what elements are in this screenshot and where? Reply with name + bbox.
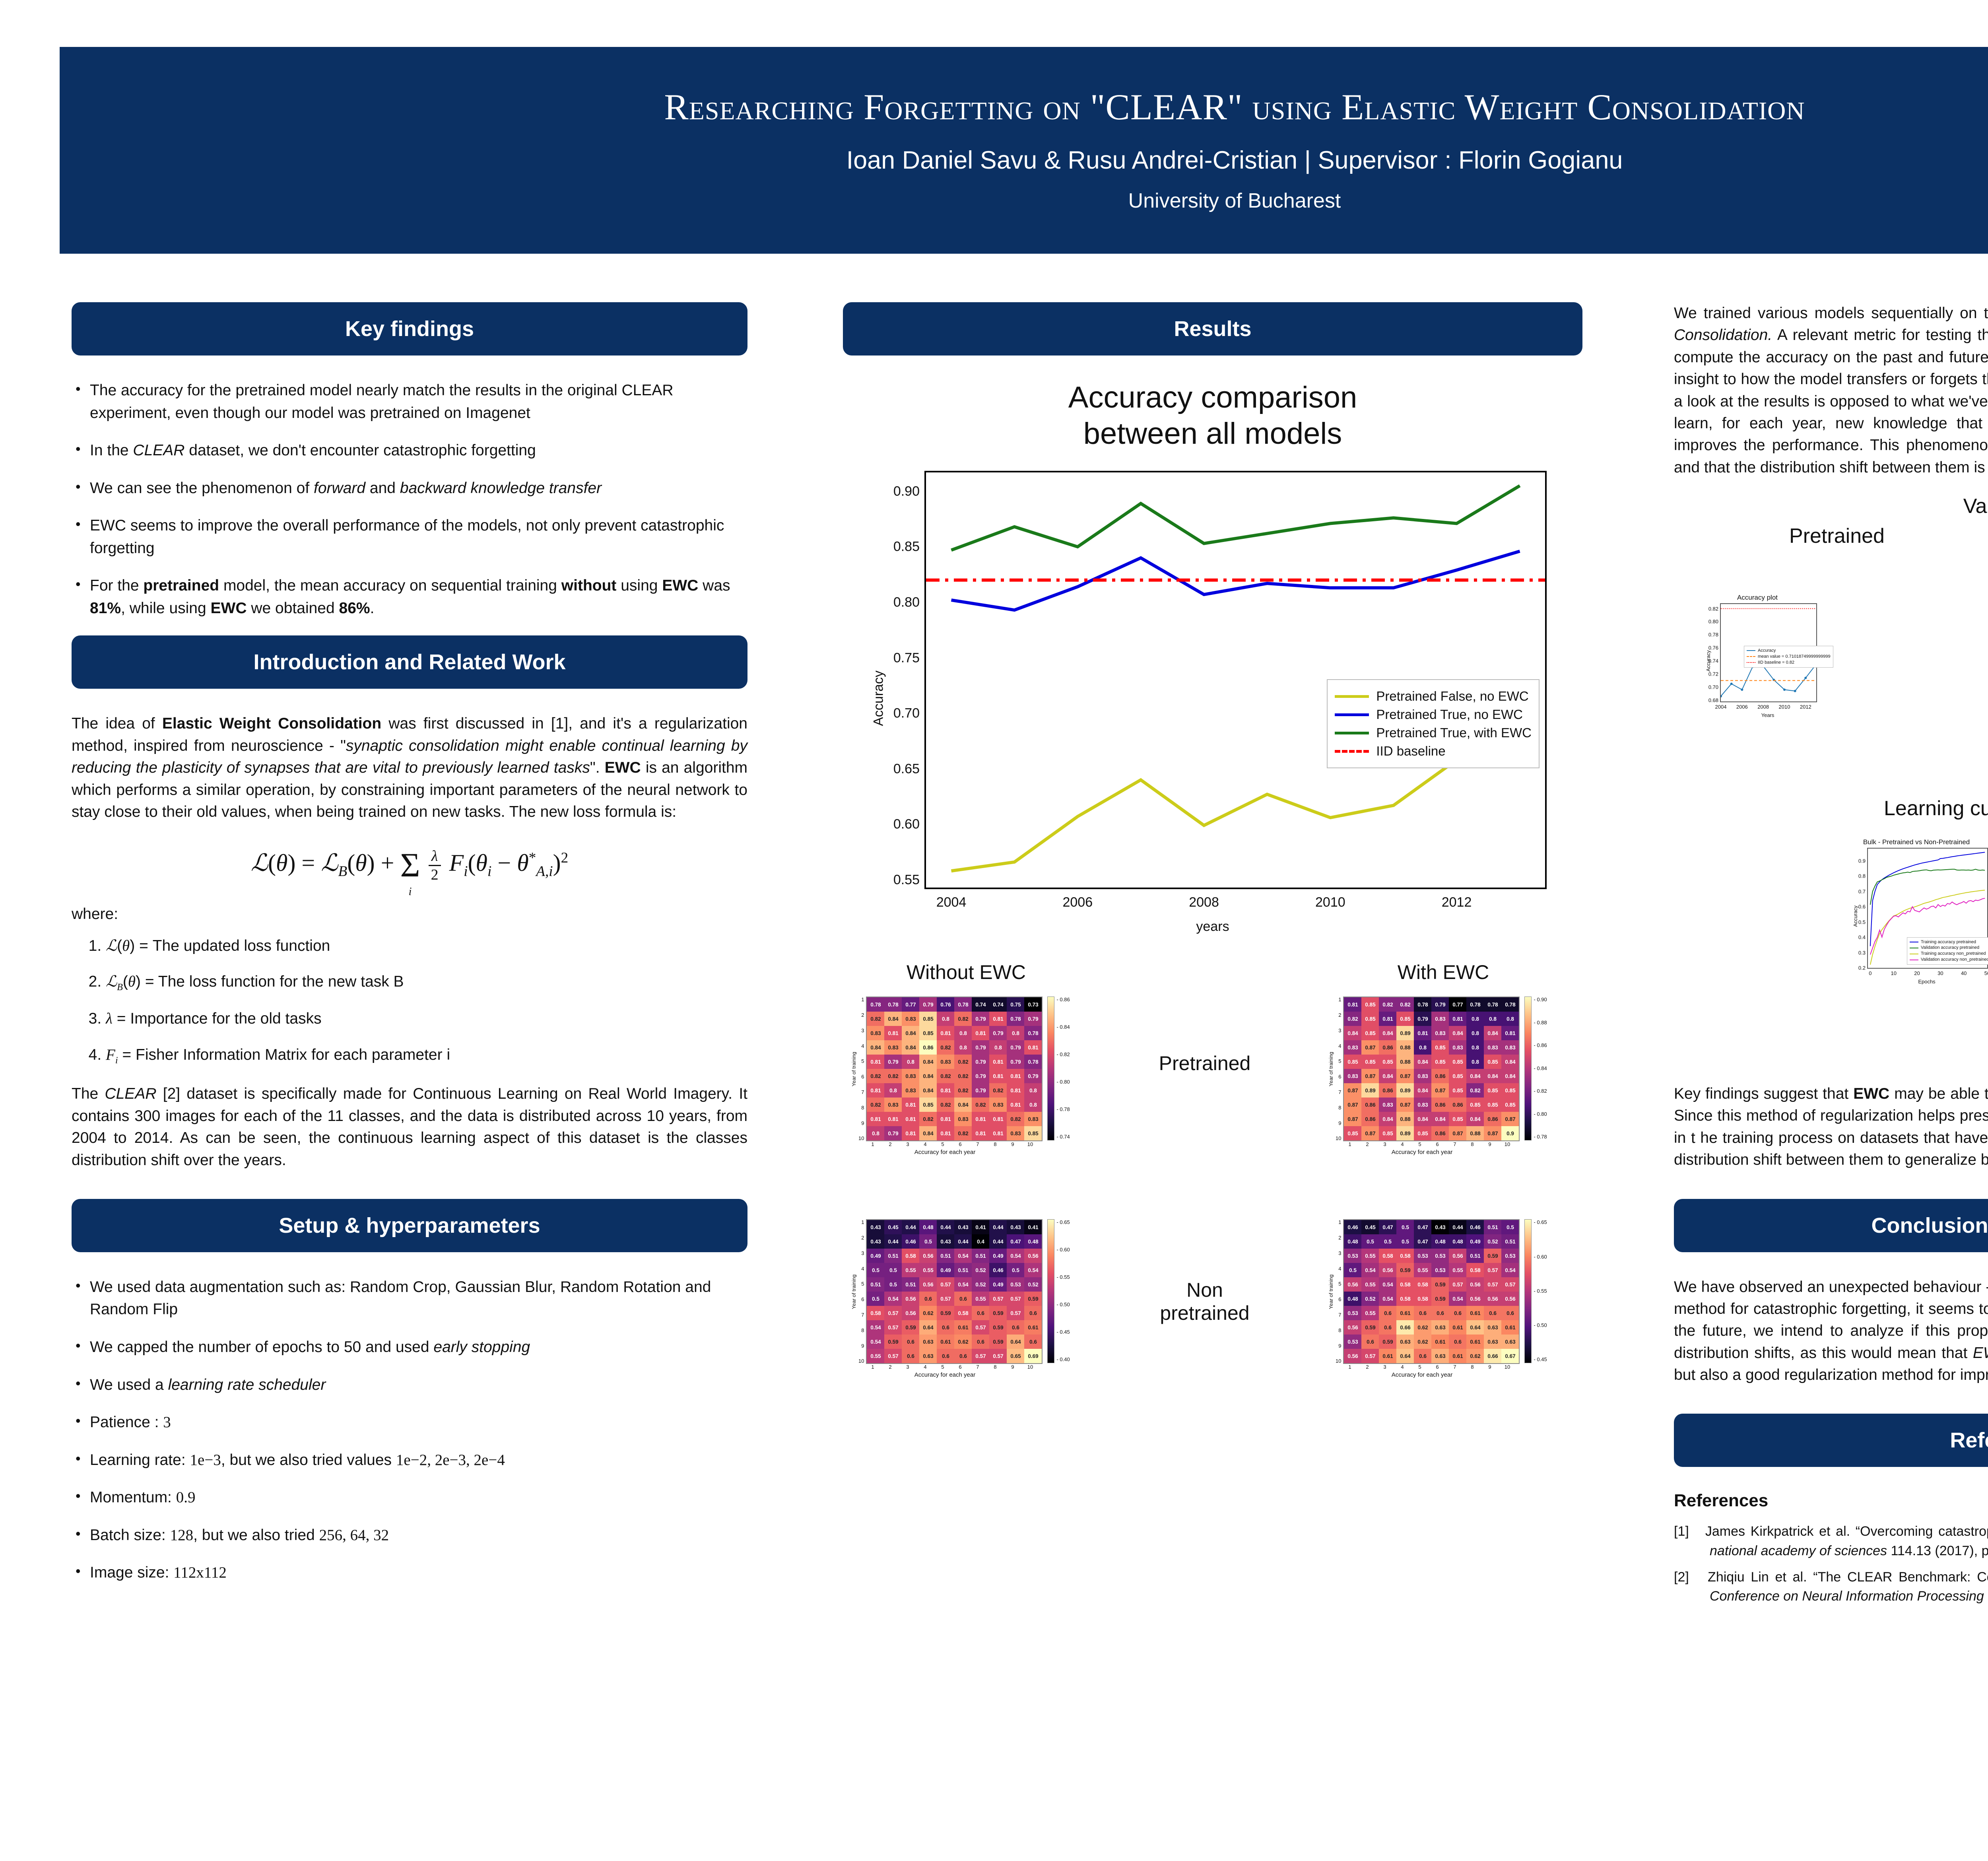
- heatmap-cell: 0.6: [902, 1349, 919, 1363]
- heatmap-cell: 0.81: [1007, 1098, 1024, 1112]
- list-item: We can see the phenomenon of forward and…: [72, 477, 747, 500]
- poster-header: Researching Forgetting on "CLEAR" using …: [60, 47, 1988, 254]
- heatmap-cell: 0.49: [937, 1263, 954, 1277]
- heatmap-cell: 0.58: [1396, 1249, 1414, 1263]
- chart-y-axis-label: Accuracy: [871, 670, 886, 726]
- heatmap-cell: 0.83: [1484, 1040, 1501, 1055]
- heatmap-y-tick: 1: [858, 997, 864, 1002]
- plot-y-tick: 0.80: [1708, 619, 1718, 625]
- heatmap-cell: 0.51: [1484, 1220, 1501, 1234]
- plot-y-tick: 0.68: [1708, 697, 1718, 703]
- heatmap-cell: 0.56: [919, 1249, 937, 1263]
- heatmap-colorbar-ticks: - 0.90- 0.88- 0.86- 0.84- 0.82- 0.80- 0.…: [1534, 997, 1547, 1140]
- heatmap-cell: 0.83: [884, 1040, 902, 1055]
- heatmap-cells: 0.460.450.470.50.470.430.440.460.510.50.…: [1343, 1219, 1520, 1364]
- heatmap-cell: 0.85: [1501, 1098, 1519, 1112]
- chart-x-tick: 2012: [1442, 895, 1472, 910]
- heatmap-cell: 0.51: [972, 1249, 989, 1263]
- heatmap-cell: 0.79: [972, 1083, 989, 1098]
- chart-y-tick: 0.90: [893, 484, 920, 499]
- plot-x-axis-label: Years: [1720, 712, 1815, 718]
- heatmap-cell: 0.81: [1379, 1012, 1396, 1026]
- heatmap-cell: 0.62: [1466, 1349, 1484, 1363]
- section-header-setup: Setup & hyperparameters: [72, 1199, 747, 1252]
- heatmap-cell: 0.6: [1024, 1335, 1042, 1349]
- heatmap-cell: 0.85: [1484, 1055, 1501, 1069]
- heatmap-cell: 0.8: [1501, 1012, 1519, 1026]
- legend-label: IID baseline: [1376, 744, 1445, 759]
- heatmap-y-axis-label: Year of training: [851, 1052, 857, 1086]
- heatmap-cell: 0.6: [1414, 1306, 1431, 1320]
- heatmap-cell: 0.55: [1361, 1277, 1379, 1292]
- heatmap-cell: 0.53: [1414, 1249, 1431, 1263]
- heatmap-cell: 0.8: [989, 1040, 1007, 1055]
- heatmap-cell: 0.83: [1379, 1098, 1396, 1112]
- heatmap-cell: 0.59: [1484, 1249, 1501, 1263]
- heatmap-cell: 0.85: [1501, 1083, 1519, 1098]
- heatmap-cell: 0.85: [1431, 1040, 1449, 1055]
- heatmap-y-axis-label: Year of training: [1328, 1052, 1334, 1086]
- heatmap-cell: 0.61: [937, 1335, 954, 1349]
- heatmap-cell: 0.88: [1396, 1040, 1414, 1055]
- heatmap-cell: 0.83: [989, 1098, 1007, 1112]
- heatmap-cell: 0.57: [937, 1277, 954, 1292]
- legend-label: Validation accuracy pretrained: [1921, 945, 1979, 951]
- legend-swatch: [1335, 695, 1369, 698]
- heatmap-cell: 0.49: [989, 1277, 1007, 1292]
- heatmap-cell: 0.44: [954, 1234, 972, 1249]
- heatmap-cell: 0.6: [1007, 1320, 1024, 1335]
- heatmap-cell: 0.81: [937, 1083, 954, 1098]
- heatmap-cell: 0.52: [972, 1263, 989, 1277]
- right-column: We trained various models sequentially o…: [1674, 302, 1988, 1615]
- heatmap-cell: 0.49: [867, 1249, 884, 1263]
- heatmap-cell: 0.85: [1484, 1098, 1501, 1112]
- heatmap-y-tick: 9: [858, 1343, 864, 1349]
- heatmap-cell: 0.63: [1431, 1349, 1449, 1363]
- heatmap-cell: 0.89: [1396, 1083, 1414, 1098]
- heatmap-y-tick: 7: [1336, 1089, 1341, 1095]
- heatmap-y-tick: 4: [858, 1043, 864, 1049]
- heatmap-x-tick: 3: [899, 1141, 916, 1147]
- heatmap-cell: 0.61: [1466, 1306, 1484, 1320]
- heatmap-y-tick: 6: [858, 1296, 864, 1302]
- heatmap-cell: 0.79: [1024, 1012, 1042, 1026]
- heatmap-cell: 0.83: [1431, 1026, 1449, 1040]
- list-item: ℒB(θ) = The loss function for the new ta…: [106, 971, 747, 994]
- heatmap-cell: 0.61: [1431, 1335, 1449, 1349]
- heatmap-cell: 0.61: [1379, 1349, 1396, 1363]
- heatmap-cell: 0.86: [1484, 1112, 1501, 1126]
- heatmap-cell: 0.85: [1379, 1055, 1396, 1069]
- heatmap-cell: 0.58: [1379, 1249, 1396, 1263]
- heatmap-cell: 0.48: [919, 1220, 937, 1234]
- heatmap-y-tick: 8: [1336, 1105, 1341, 1111]
- heatmap-cell: 0.84: [884, 1012, 902, 1026]
- plot-x-tick: 30: [1938, 970, 1943, 976]
- heatmap-x-axis-label: Accuracy for each year: [851, 1371, 1039, 1378]
- heatmap-cell: 0.41: [1024, 1220, 1042, 1234]
- plot-x-tick: 20: [1914, 970, 1920, 976]
- colorbar-tick: - 0.65: [1534, 1219, 1547, 1225]
- heatmap-y-tick: 3: [1336, 1028, 1341, 1033]
- chart-y-tick: 0.65: [893, 761, 920, 777]
- heatmap-cell: 0.43: [937, 1234, 954, 1249]
- heatmap-cell: 0.56: [1501, 1292, 1519, 1306]
- heatmap-cell: 0.5: [867, 1292, 884, 1306]
- heatmap-x-tick: 10: [1499, 1364, 1516, 1370]
- heatmap-cell: 0.83: [902, 1083, 919, 1098]
- heatmap-cell: 0.85: [1396, 1012, 1414, 1026]
- heatmap-cell: 0.82: [937, 1069, 954, 1083]
- references-heading: References: [1674, 1491, 1988, 1511]
- colorbar-tick: - 0.84: [1534, 1065, 1547, 1071]
- heatmap-x-tick: 1: [1341, 1364, 1359, 1370]
- heatmap-cell: 0.87: [1361, 1069, 1379, 1083]
- heatmap-cell: 0.57: [1007, 1292, 1024, 1306]
- heatmap-cell: 0.85: [1414, 1126, 1431, 1140]
- heatmap-cell: 0.84: [1484, 1069, 1501, 1083]
- heatmap-cell: 0.63: [1484, 1335, 1501, 1349]
- heatmap-cell: 0.6: [937, 1349, 954, 1363]
- heatmap-cell: 0.81: [902, 1098, 919, 1112]
- heatmap-cell: 0.78: [1007, 1012, 1024, 1026]
- heatmap-cell: 0.54: [1379, 1292, 1396, 1306]
- heatmap-cell: 0.64: [1466, 1320, 1484, 1335]
- heatmap-row-label-non-pretrained: Nonpretrained: [1105, 1279, 1304, 1325]
- heatmap-col-label-without-ewc: Without EWC: [855, 961, 1077, 984]
- heatmap-cell: 0.84: [1449, 1026, 1466, 1040]
- heatmap-cell: 0.79: [972, 1012, 989, 1026]
- header-text-block: Researching Forgetting on "CLEAR" using …: [60, 88, 1988, 213]
- heatmap-y-tick: 2: [1336, 1012, 1341, 1018]
- heatmap-cell: 0.54: [1361, 1263, 1379, 1277]
- heatmap-cell: 0.78: [1024, 1055, 1042, 1069]
- heatmap-cell: 0.77: [1449, 997, 1466, 1012]
- heatmap-x-tick: 4: [1394, 1141, 1411, 1147]
- heatmap-cell: 0.84: [1484, 1026, 1501, 1040]
- heatmap-cell: 0.59: [1361, 1320, 1379, 1335]
- introduction-paragraph: The idea of Elastic Weight Consolidation…: [72, 713, 747, 823]
- heatmap-cell: 0.87: [1501, 1112, 1519, 1126]
- heatmap-cell: 0.85: [1431, 1055, 1449, 1069]
- legend-entry: Pretrained False, no EWC: [1335, 689, 1532, 704]
- heatmap-x-tick: 7: [1446, 1141, 1464, 1147]
- heatmap-cell: 0.84: [1379, 1026, 1396, 1040]
- heatmap-cell: 0.84: [902, 1026, 919, 1040]
- legend-entry: IID baseline = 0.82: [1747, 660, 1831, 666]
- heatmap-cell: 0.57: [1484, 1277, 1501, 1292]
- heatmap-cell: 0.81: [867, 1055, 884, 1069]
- heatmap-cell: 0.47: [1007, 1234, 1024, 1249]
- chart-legend: Pretrained False, no EWCPretrained True,…: [1327, 679, 1540, 768]
- heatmap-cell: 0.57: [937, 1292, 954, 1306]
- heatmap-cell: 0.83: [1414, 1069, 1431, 1083]
- heatmap-cell: 0.58: [1414, 1292, 1431, 1306]
- list-item: Patience : 3: [72, 1411, 747, 1434]
- heatmap-cell: 0.56: [1484, 1292, 1501, 1306]
- heatmap-cell: 0.8: [1024, 1098, 1042, 1112]
- colorbar-tick: - 0.55: [1534, 1288, 1547, 1294]
- heatmap-cell: 0.84: [1466, 1069, 1484, 1083]
- plot-y-tick: 0.5: [1858, 919, 1866, 925]
- validation-heading: Validation: [1928, 494, 1988, 518]
- heatmap-y-tick: 3: [858, 1250, 864, 1256]
- heatmap-cell: 0.63: [1501, 1335, 1519, 1349]
- heatmap-cell: 0.8: [954, 1026, 972, 1040]
- heatmap-cell: 0.57: [972, 1349, 989, 1363]
- heatmap-cell: 0.82: [1007, 1112, 1024, 1126]
- plot-y-tick: 0.78: [1708, 632, 1718, 638]
- heatmap-cell: 0.79: [972, 1040, 989, 1055]
- colorbar-tick: - 0.65: [1056, 1219, 1070, 1225]
- plot-y-tick: 0.8: [1858, 873, 1866, 879]
- heatmap-cell: 0.8: [937, 1012, 954, 1026]
- heatmap-cell: 0.51: [884, 1249, 902, 1263]
- heatmap-cell: 0.59: [937, 1306, 954, 1320]
- heatmap-cell: 0.48: [1024, 1234, 1042, 1249]
- heatmap-cell: 0.85: [1344, 1126, 1361, 1140]
- heatmap-cell: 0.83: [1449, 1040, 1466, 1055]
- heatmap-cell: 0.52: [972, 1277, 989, 1292]
- heatmap-cell: 0.81: [867, 1112, 884, 1126]
- heatmap-cell: 0.51: [867, 1277, 884, 1292]
- list-item: We used a learning rate scheduler: [72, 1374, 747, 1397]
- legend-entry: Pretrained True, no EWC: [1335, 707, 1532, 722]
- heatmap-row-ticks: 12345678910: [858, 1219, 866, 1364]
- heatmap-cell: 0.85: [1449, 1069, 1466, 1083]
- heatmap-cell: 0.81: [972, 1126, 989, 1140]
- heatmap-cell: 0.55: [919, 1263, 937, 1277]
- heatmap-cell: 0.63: [919, 1335, 937, 1349]
- chart-plot-area: 0.550.600.650.700.750.800.850.9020042006…: [924, 471, 1547, 889]
- heatmap-cell: 0.62: [919, 1306, 937, 1320]
- heatmap-row-ticks: 12345678910: [1336, 997, 1343, 1141]
- heatmap-cell: 0.82: [867, 1012, 884, 1026]
- heatmap-x-tick: 3: [1376, 1141, 1394, 1147]
- heatmap-x-tick: 2: [881, 1141, 899, 1147]
- heatmap-cell: 0.86: [1379, 1040, 1396, 1055]
- heatmap-cell: 0.81: [902, 1126, 919, 1140]
- heatmap-cell: 0.53: [1344, 1306, 1361, 1320]
- plot-y-tick: 0.2: [1858, 965, 1866, 971]
- heatmap-cell: 0.79: [1007, 1055, 1024, 1069]
- heatmap-cell: 0.8: [1484, 1012, 1501, 1026]
- list-item: λ = Importance for the old tasks: [106, 1008, 747, 1030]
- heatmap-x-ticks: 12345678910: [1341, 1141, 1516, 1147]
- heatmap-x-ticks: 12345678910: [864, 1141, 1039, 1147]
- colorbar-tick: - 0.86: [1534, 1042, 1547, 1048]
- legend-entry: Accuracy: [1747, 648, 1831, 654]
- heatmap-cell: 0.85: [1449, 1112, 1466, 1126]
- where-label: where:: [72, 903, 747, 925]
- heatmap-cell: 0.66: [1484, 1349, 1501, 1363]
- plot-y-tick: 0.7: [1858, 888, 1866, 894]
- heatmap-cell: 0.81: [1414, 1026, 1431, 1040]
- heatmap-y-tick: 8: [858, 1105, 864, 1111]
- heatmap-cell: 0.54: [1379, 1277, 1396, 1292]
- heatmap-cell: 0.61: [1501, 1320, 1519, 1335]
- heatmap-cell: 0.54: [867, 1320, 884, 1335]
- heatmap-x-tick: 2: [881, 1364, 899, 1370]
- heatmap-cell: 0.57: [884, 1320, 902, 1335]
- heatmap-y-tick: 3: [1336, 1250, 1341, 1256]
- heatmap-cell: 0.81: [884, 1026, 902, 1040]
- heatmap-cell: 0.85: [919, 1098, 937, 1112]
- heatmap-x-tick: 6: [951, 1141, 969, 1147]
- validation-label-pretrained: Pretrained: [1745, 524, 1928, 548]
- heatmap-cell: 0.82: [919, 1112, 937, 1126]
- plot-y-tick: 0.82: [1708, 606, 1718, 612]
- heatmap-cell: 0.83: [1344, 1069, 1361, 1083]
- heatmap-cell: 0.43: [1007, 1220, 1024, 1234]
- heatmap-cell: 0.46: [902, 1234, 919, 1249]
- heatmap-cell: 0.61: [1449, 1320, 1466, 1335]
- heatmap-cell: 0.62: [954, 1335, 972, 1349]
- heatmap-y-tick: 8: [1336, 1327, 1341, 1333]
- legend-swatch: [1747, 650, 1755, 651]
- heatmap-y-tick: 5: [1336, 1281, 1341, 1287]
- dataset-paragraph: The CLEAR [2] dataset is specifically ma…: [72, 1083, 747, 1171]
- plot-x-tick: 40: [1961, 970, 1967, 976]
- heatmap-cell: 0.59: [884, 1335, 902, 1349]
- legend-swatch: [1335, 732, 1369, 734]
- heatmap-cell: 0.54: [954, 1249, 972, 1263]
- heatmap-y-tick: 1: [1336, 997, 1341, 1002]
- heatmap-y-tick: 4: [858, 1266, 864, 1272]
- chart-x-tick: 2006: [1062, 895, 1093, 910]
- heatmap-cell: 0.75: [1007, 997, 1024, 1012]
- heatmap-colorbar-ticks: - 0.65- 0.60- 0.55- 0.50- 0.45: [1534, 1219, 1547, 1362]
- heatmap-cell: 0.6: [937, 1320, 954, 1335]
- heatmap-cell: 0.85: [1449, 1055, 1466, 1069]
- heatmap-y-tick: 5: [1336, 1058, 1341, 1064]
- heatmap-pretrained-no-ewc: Year of training123456789100.780.780.770…: [851, 997, 1076, 1156]
- section-header-references: References: [1674, 1414, 1988, 1467]
- heatmap-cell: 0.61: [1396, 1306, 1414, 1320]
- heatmap-x-tick: 9: [1004, 1141, 1021, 1147]
- chart-y-tick: 0.70: [893, 706, 920, 721]
- heatmap-cell: 0.6: [919, 1292, 937, 1306]
- heatmap-cell: 0.44: [1449, 1220, 1466, 1234]
- heatmap-cell: 0.86: [1431, 1126, 1449, 1140]
- heatmap-cell: 0.81: [989, 1055, 1007, 1069]
- heatmap-cell: 0.48: [1344, 1234, 1361, 1249]
- heatmap-cell: 0.56: [1024, 1249, 1042, 1263]
- heatmap-cell: 0.58: [1396, 1292, 1414, 1306]
- heatmap-cell: 0.79: [884, 1055, 902, 1069]
- heatmap-x-tick: 10: [1021, 1364, 1039, 1370]
- heatmap-cell: 0.5: [1379, 1234, 1396, 1249]
- heatmap-cell: 0.84: [919, 1083, 937, 1098]
- plot-y-tick: 0.9: [1858, 858, 1866, 864]
- heatmap-cell: 0.53: [1344, 1335, 1361, 1349]
- heatmap-cell: 0.81: [989, 1126, 1007, 1140]
- plot-x-axis-label: Epochs: [1867, 979, 1986, 985]
- legend-label: IID baseline = 0.82: [1758, 660, 1794, 666]
- heatmap-cell: 0.84: [919, 1055, 937, 1069]
- heatmap-row-ticks: 12345678910: [1336, 1219, 1343, 1364]
- list-item: In the CLEAR dataset, we don't encounter…: [72, 439, 747, 462]
- plot-y-tick: 0.72: [1708, 671, 1718, 677]
- heatmap-x-tick: 5: [1411, 1364, 1429, 1370]
- plot-x-tick: 2006: [1736, 704, 1748, 710]
- heatmap-cell: 0.56: [1344, 1277, 1361, 1292]
- heatmap-cell: 0.57: [989, 1292, 1007, 1306]
- heatmap-cell: 0.82: [954, 1126, 972, 1140]
- heatmap-cell: 0.6: [1501, 1306, 1519, 1320]
- heatmap-cell: 0.59: [989, 1320, 1007, 1335]
- colorbar-tick: - 0.40: [1056, 1356, 1070, 1362]
- list-item: Learning rate: 1e−3, but we also tried v…: [72, 1449, 747, 1472]
- heatmap-y-tick: 1: [858, 1219, 864, 1225]
- heatmap-cell: 0.52: [1024, 1277, 1042, 1292]
- heatmap-x-tick: 6: [1429, 1364, 1446, 1370]
- heatmap-cell: 0.8: [867, 1126, 884, 1140]
- heatmap-cell: 0.82: [972, 1098, 989, 1112]
- heatmap-cell: 0.84: [1344, 1026, 1361, 1040]
- heatmap-cell: 0.46: [1344, 1220, 1361, 1234]
- heatmap-y-tick: 9: [858, 1120, 864, 1126]
- heatmap-cell: 0.85: [1361, 1026, 1379, 1040]
- chart-y-tick: 0.60: [893, 817, 920, 832]
- heatmap-cell: 0.83: [902, 1069, 919, 1083]
- heatmap-cell: 0.83: [902, 1012, 919, 1026]
- colorbar-tick: - 0.45: [1534, 1356, 1547, 1362]
- learning-curve-block: Learning curve Bulk - Pretrained vs Non-…: [1674, 796, 1988, 1083]
- reference-item: [2] Zhiqiu Lin et al. “The CLEAR Benchma…: [1674, 1568, 1988, 1606]
- heatmap-cell: 0.87: [1344, 1112, 1361, 1126]
- legend-label: Pretrained False, no EWC: [1376, 689, 1528, 704]
- heatmap-cell: 0.81: [1344, 997, 1361, 1012]
- heatmap-cell: 0.83: [1344, 1040, 1361, 1055]
- heatmap-x-tick: 7: [969, 1364, 986, 1370]
- heatmap-cell: 0.59: [1431, 1277, 1449, 1292]
- legend-label: Accuracy: [1758, 648, 1776, 654]
- plot-y-tick: 0.6: [1858, 904, 1866, 910]
- heatmap-cell: 0.55: [1414, 1263, 1431, 1277]
- heatmap-y-tick: 7: [858, 1089, 864, 1095]
- plot-area: 0.20.30.40.50.60.70.80.901020304050Train…: [1867, 848, 1988, 969]
- heatmap-cell: 0.8: [1007, 1026, 1024, 1040]
- legend-entry: Validation accuracy pretrained: [1910, 945, 1988, 951]
- heatmap-cell: 0.54: [954, 1277, 972, 1292]
- heatmap-cell: 0.54: [1024, 1263, 1042, 1277]
- ewc-loss-formula: ℒ(θ) = ℒB(θ) + Σi λ2 Fi(θi − θ*A,i)2: [72, 845, 747, 885]
- heatmap-cell: 0.6: [1379, 1320, 1396, 1335]
- heatmap-cell: 0.82: [1379, 997, 1396, 1012]
- legend-swatch: [1910, 948, 1918, 948]
- heatmap-cell: 0.53: [1501, 1249, 1519, 1263]
- legend-swatch: [1910, 942, 1918, 942]
- heatmap-cell: 0.83: [937, 1055, 954, 1069]
- heatmap-cell: 0.58: [1414, 1277, 1431, 1292]
- heatmap-cell: 0.82: [1466, 1083, 1484, 1098]
- plot-legend: Accuracymean value = 0.71018749999999999…: [1744, 646, 1833, 668]
- chart-y-tick: 0.75: [893, 650, 920, 666]
- heatmap-x-tick: 7: [969, 1141, 986, 1147]
- colorbar-tick: - 0.78: [1534, 1134, 1547, 1140]
- heatmap-cell: 0.88: [1396, 1112, 1414, 1126]
- section-header-key-findings: Key findings: [72, 302, 747, 355]
- heatmap-cell: 0.51: [1466, 1249, 1484, 1263]
- legend-entry: Pretrained True, with EWC: [1335, 725, 1532, 740]
- heatmap-cell: 0.64: [1396, 1349, 1414, 1363]
- learning-curve-heading: Learning curve: [1833, 796, 1988, 820]
- heatmap-cell: 0.86: [1361, 1112, 1379, 1126]
- heatmap-colorbar-ticks: - 0.86- 0.84- 0.82- 0.80- 0.78- 0.74: [1056, 997, 1070, 1140]
- poster-root: Researching Forgetting on "CLEAR" using …: [0, 0, 1988, 1861]
